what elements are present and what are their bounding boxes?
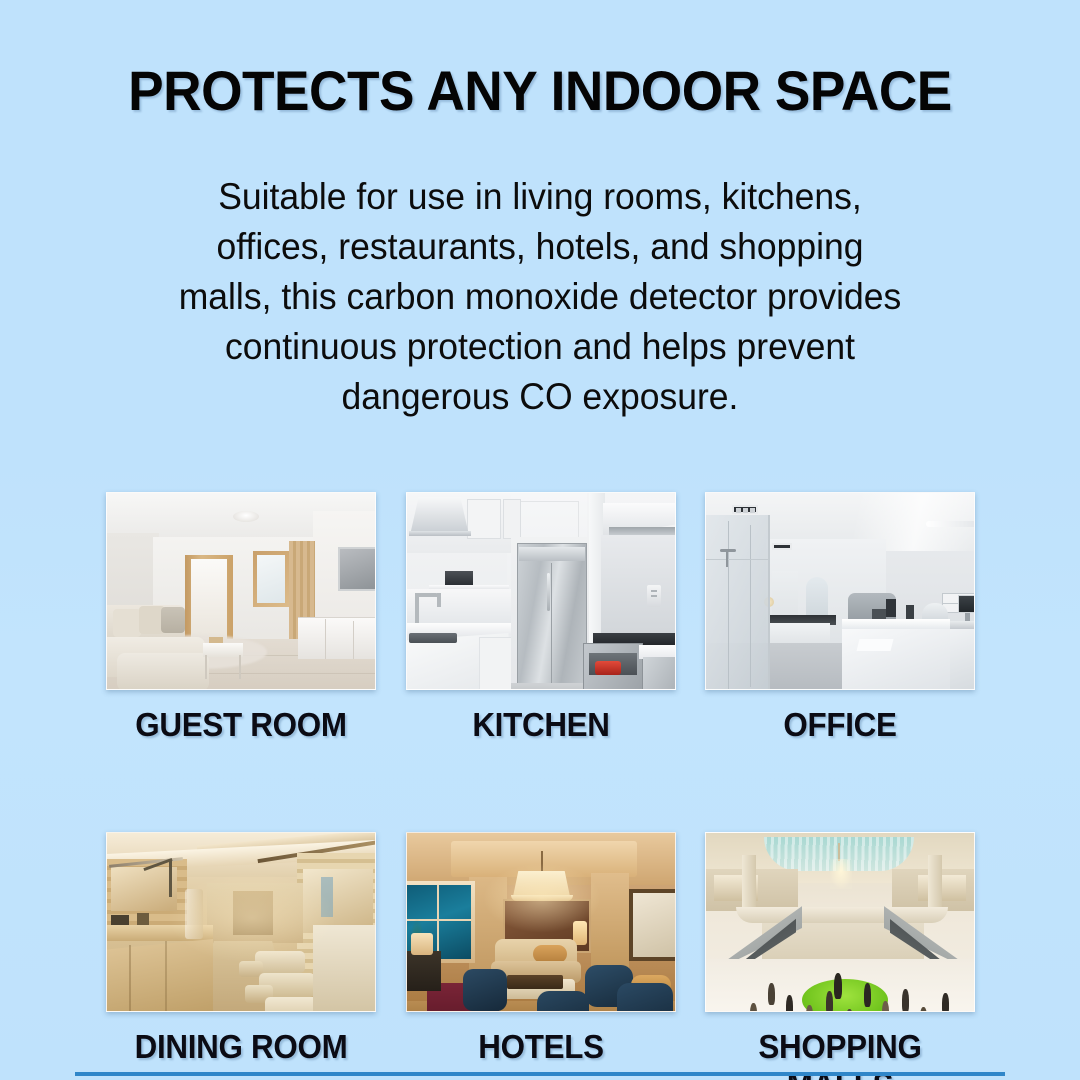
dining-room-photo <box>106 832 376 1012</box>
bottom-divider <box>75 1072 1005 1076</box>
use-case-caption: OFFICE <box>712 706 969 744</box>
gallery-row: GUEST ROOM <box>106 492 975 744</box>
use-case-caption: GUEST ROOM <box>113 706 370 744</box>
shopping-malls-photo <box>705 832 975 1012</box>
kitchen-photo <box>406 492 676 690</box>
use-case-card-guest-room[interactable]: GUEST ROOM <box>106 492 376 744</box>
use-case-card-dining-room[interactable]: DINING ROOM <box>106 832 376 1080</box>
gallery-row: DINING ROOM <box>106 832 975 1080</box>
use-case-caption: DINING ROOM <box>113 1028 370 1066</box>
hotels-photo <box>406 832 676 1012</box>
office-photo <box>705 492 975 690</box>
use-case-card-shopping-malls[interactable]: SHOPPING MALLS <box>705 832 975 1080</box>
use-case-gallery: GUEST ROOM <box>106 492 975 1080</box>
use-case-card-hotels[interactable]: HOTELS <box>406 832 676 1080</box>
use-case-caption: HOTELS <box>412 1028 669 1066</box>
guest-room-photo <box>106 492 376 690</box>
use-case-card-kitchen[interactable]: KITCHEN <box>406 492 676 744</box>
use-case-card-office[interactable]: OFFICE <box>705 492 975 744</box>
page-description: Suitable for use in living rooms, kitche… <box>166 172 915 422</box>
use-case-caption: KITCHEN <box>412 706 669 744</box>
page-title: PROTECTS ANY INDOOR SPACE <box>27 60 1053 122</box>
